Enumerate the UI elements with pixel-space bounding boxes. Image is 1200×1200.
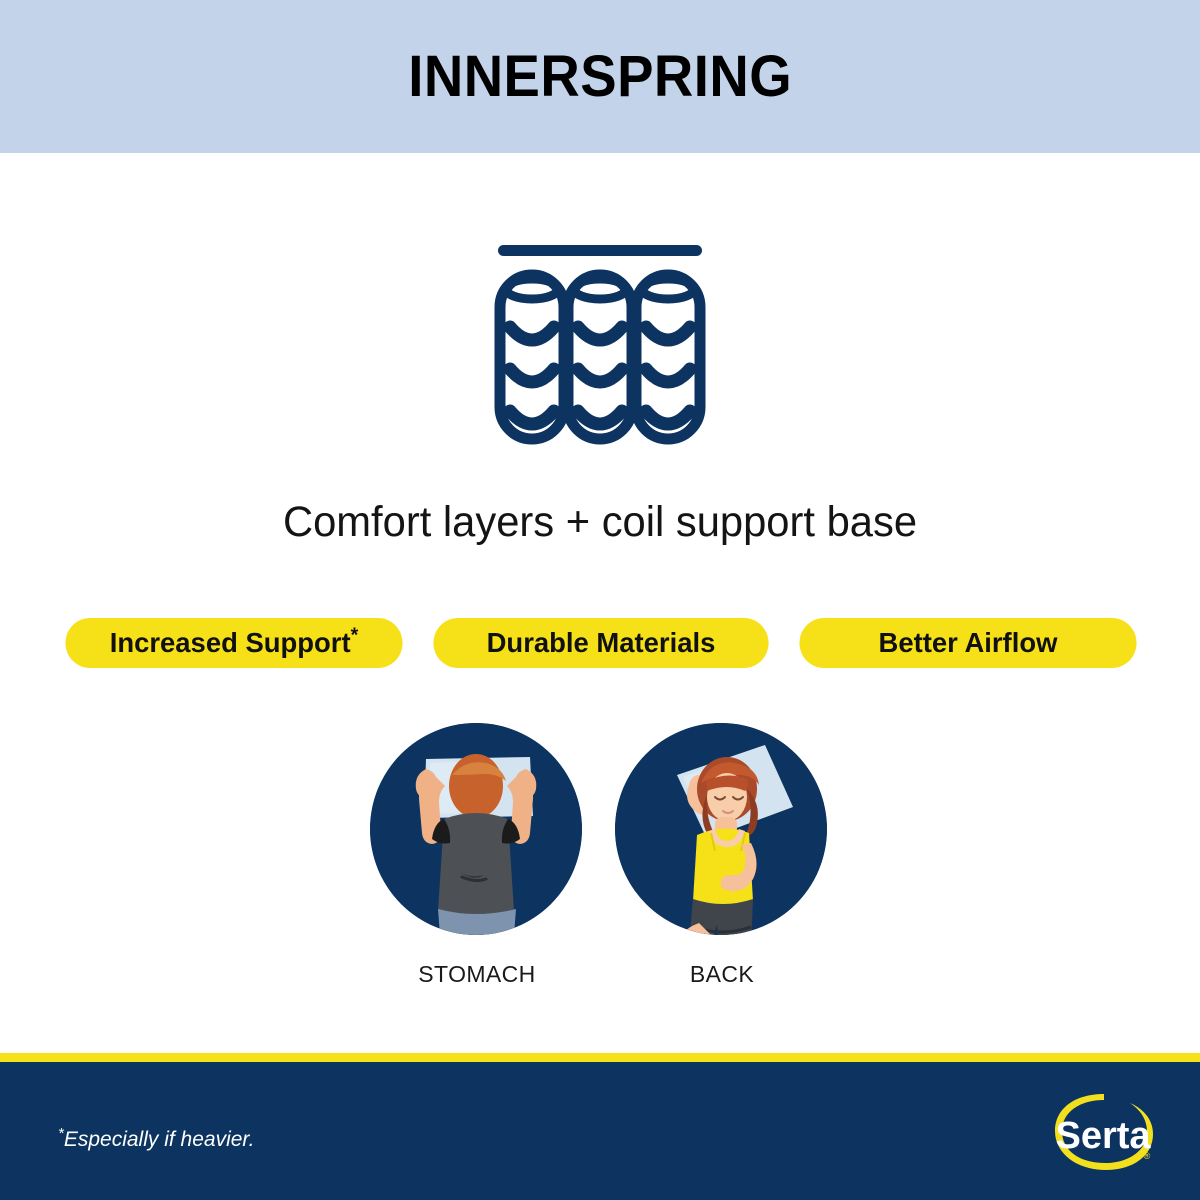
main-content: Comfort layers + coil support base Incre… xyxy=(0,153,1200,1053)
subtitle-text: Comfort layers + coil support base xyxy=(18,498,1182,547)
serta-wordmark: Serta xyxy=(1055,1115,1151,1157)
header-banner: INNERSPRING xyxy=(0,0,1200,153)
sleep-position-back[interactable]: BACK xyxy=(615,723,829,988)
sleep-position-group: STOMACH xyxy=(0,723,1200,1023)
registered-trademark-icon: ® xyxy=(1144,1151,1151,1161)
sleep-position-label-back: BACK xyxy=(615,961,829,988)
sleep-position-label-stomach: STOMACH xyxy=(370,961,584,988)
benefit-pill-durable-materials[interactable]: Durable Materials xyxy=(433,618,768,668)
page-title: INNERSPRING xyxy=(408,48,792,106)
benefit-pill-label: Durable Materials xyxy=(487,627,716,658)
stomach-sleeper-illustration xyxy=(370,723,582,935)
benefit-pill-group: Increased Support* Durable Materials Bet… xyxy=(62,618,1140,668)
serta-logo[interactable]: Serta ® xyxy=(1050,1086,1158,1178)
footnote-marker-icon: * xyxy=(351,625,359,647)
back-sleeper-illustration xyxy=(615,723,827,935)
footnote-label: Especially if heavier. xyxy=(64,1128,255,1151)
benefit-pill-label: Increased Support xyxy=(110,627,351,658)
sleep-position-stomach[interactable]: STOMACH xyxy=(370,723,584,988)
footnote-text: *Especially if heavier. xyxy=(58,1128,254,1152)
benefit-pill-label: Better Airflow xyxy=(879,627,1058,658)
innerspring-coils-icon xyxy=(494,235,706,445)
footer-accent-divider xyxy=(0,1053,1200,1062)
benefit-pill-increased-support[interactable]: Increased Support* xyxy=(65,618,402,668)
benefit-pill-better-airflow[interactable]: Better Airflow xyxy=(799,618,1136,668)
footer-bar: *Especially if heavier. Serta ® xyxy=(0,1062,1200,1200)
